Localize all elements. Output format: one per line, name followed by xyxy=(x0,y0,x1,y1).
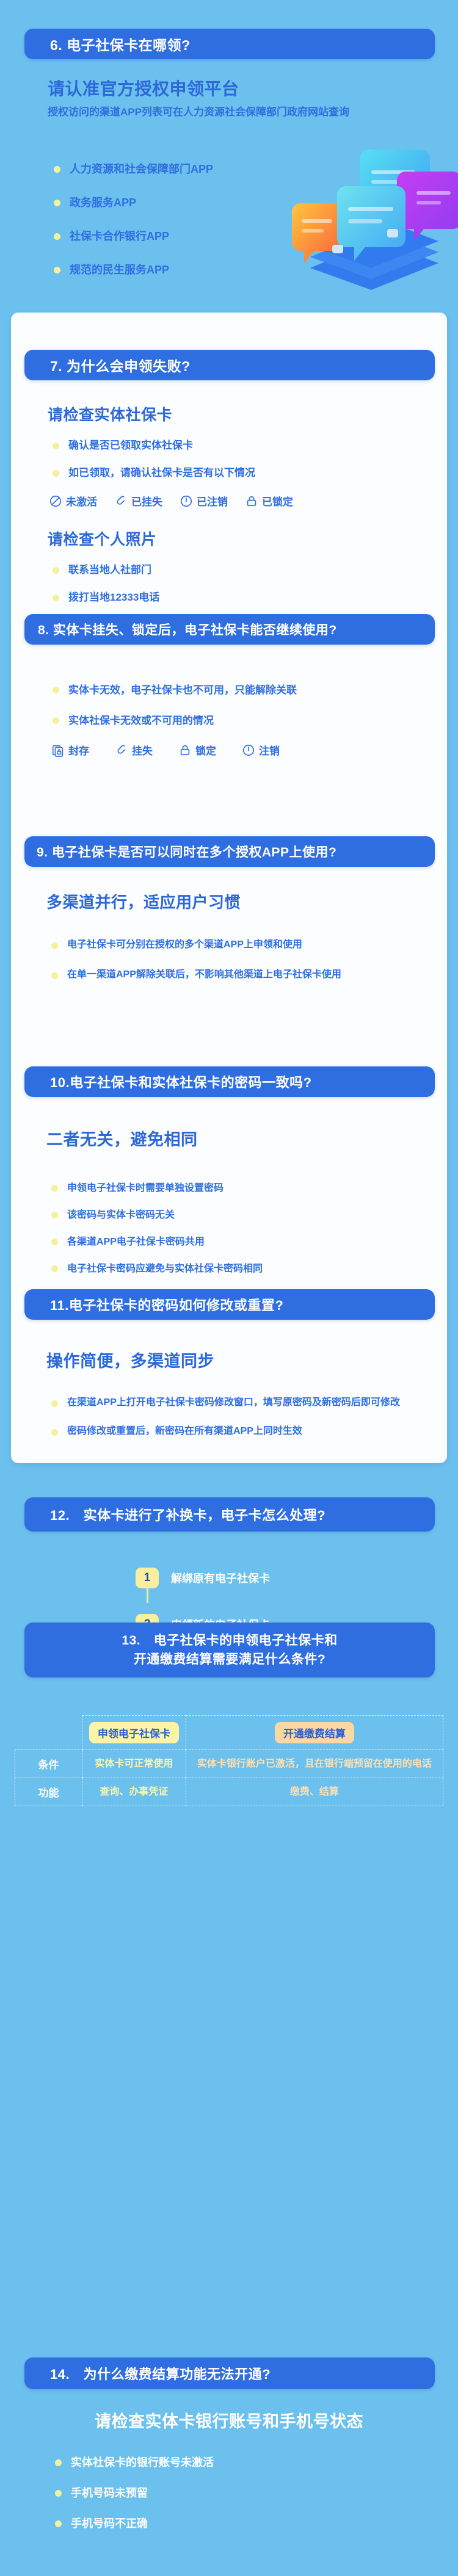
cell-condition-apply: 实体卡可正常使用 xyxy=(82,1750,186,1778)
section-8-list: 实体卡无效，电子社保卡也不可用，只能解除关联 实体社保卡无效或不可用的情况 xyxy=(46,675,437,736)
question-pill-14[interactable]: 14. 为什么缴费结算功能无法开通? xyxy=(24,2357,435,2389)
power-icon xyxy=(242,743,255,757)
section-10-list: 申领电子社保卡时需要单独设置密码 该密码与实体卡密码无关 各渠道APP电子社保卡… xyxy=(45,1175,436,1283)
list-item: 在渠道APP上打开电子社保卡密码修改窗口，填写原密码及新密码后即可修改 xyxy=(45,1395,430,1411)
list-item: 电子社保卡密码应避免与实体社保卡密码相同 xyxy=(45,1256,436,1283)
section-11-heading: 操作简便，多渠道同步 xyxy=(46,1348,214,1372)
chip-apply: 申领电子社保卡 xyxy=(89,1722,179,1743)
status-tag-label: 已注销 xyxy=(197,493,228,508)
section-6: 6. 电子社保卡在哪领? 请认准官方授权申领平台 授权访问的渠道APP列表可在人… xyxy=(0,0,458,308)
list-item: 实体卡无效，电子社保卡也不可用，只能解除关联 xyxy=(46,675,437,706)
section-9-list: 电子社保卡可分别在授权的多个渠道APP上申领和使用 在单一渠道APP解除关联后，… xyxy=(45,938,430,997)
list-item: 实体社保卡的银行账号未激活 xyxy=(49,2448,415,2478)
section-14-list: 实体社保卡的银行账号未激活 手机号码未预留 手机号码不正确 xyxy=(49,2448,415,2539)
list-item: 拨打当地12333电话 xyxy=(46,584,425,612)
list-item: 该密码与实体卡密码无关 xyxy=(45,1202,436,1229)
no-entry-icon xyxy=(49,494,62,508)
question-pill-7[interactable]: 7. 为什么会申领失败? xyxy=(24,350,435,380)
section-10-heading: 二者无关，避免相同 xyxy=(46,1126,198,1150)
status-tag-sealed[interactable]: 封存 xyxy=(51,742,89,758)
question-line-1: 13. 电子社保卡的申领电子社保卡和 xyxy=(122,1631,337,1651)
list-item: 实体社保卡无效或不可用的情况 xyxy=(46,706,437,736)
row-label-function: 功能 xyxy=(15,1778,82,1806)
chat-bubbles-illustration xyxy=(286,137,458,290)
question-pill-12[interactable]: 12. 实体卡进行了补换卡，电子卡怎么处理? xyxy=(24,1497,435,1532)
status-tag-label: 已锁定 xyxy=(262,493,293,508)
conditions-table-wrap: 申领电子社保卡 开通缴费结算 条件 实体卡可正常使用 实体卡银行账户已激活，且在… xyxy=(15,1715,443,1806)
pin-icon xyxy=(115,743,128,757)
list-item: 电子社保卡可分别在授权的多个渠道APP上申领和使用 xyxy=(45,938,430,953)
status-tag-label: 挂失 xyxy=(132,742,153,758)
question-pill-11[interactable]: 11.电子社保卡的密码如何修改或重置? xyxy=(24,1289,435,1320)
section-7-heading-2: 请检查个人照片 xyxy=(48,527,157,549)
step-label: 解绑原有电子社保卡 xyxy=(171,1570,270,1586)
step-connector xyxy=(147,1585,148,1603)
list-item: 各渠道APP电子社保卡密码共用 xyxy=(45,1229,436,1256)
section-14-heading: 请检查实体卡银行账号和手机号状态 xyxy=(0,2408,458,2432)
power-icon xyxy=(180,494,193,508)
status-tag-cancelled[interactable]: 注销 xyxy=(242,742,280,758)
faq-card: 7. 为什么会申领失败? 请检查实体社保卡 确认是否已领取实体社保卡 如已领取，… xyxy=(11,313,447,1463)
question-line-2: 开通缴费结算需要满足什么条件? xyxy=(134,1650,325,1670)
section-9-heading: 多渠道并行，适应用户习惯 xyxy=(46,890,241,913)
status-tag-label: 未激活 xyxy=(66,493,97,508)
section-7-status-tags: 未激活 已挂失 已注销 xyxy=(49,493,440,508)
section-6-subtitle: 授权访问的渠道APP列表可在人力资源社会保障部门政府网站查询 xyxy=(48,104,414,120)
status-tag-reported-lost[interactable]: 已挂失 xyxy=(114,493,162,508)
section-7-heading: 请检查实体社保卡 xyxy=(48,403,172,425)
cell-function-payment: 缴费、结算 xyxy=(186,1778,443,1806)
lock-icon xyxy=(245,494,258,508)
section-11-list: 在渠道APP上打开电子社保卡密码修改窗口，填写原密码及新密码后即可修改 密码修改… xyxy=(45,1395,430,1453)
status-tag-label: 锁定 xyxy=(195,742,216,758)
step-item: 1 解绑原有电子社保卡 xyxy=(136,1564,270,1592)
list-item: 手机号码不正确 xyxy=(49,2509,415,2539)
section-8-status-tags: 封存 挂失 锁定 xyxy=(51,742,442,758)
status-tag-label: 已挂失 xyxy=(131,493,162,508)
list-item: 确认是否已领取实体社保卡 xyxy=(46,432,425,460)
list-item: 如已领取，请确认社保卡是否有以下情况 xyxy=(46,460,425,487)
table-corner-cell xyxy=(15,1716,82,1750)
list-item: 联系当地人社部门 xyxy=(46,557,425,584)
section-6-heading: 请认准官方授权申领平台 xyxy=(48,76,239,100)
table-col-header-payment: 开通缴费结算 xyxy=(186,1716,443,1750)
table-header-row: 申领电子社保卡 开通缴费结算 xyxy=(15,1716,443,1750)
question-pill-8[interactable]: 8. 实体卡挂失、锁定后，电子社保卡能否继续使用? xyxy=(24,614,435,645)
section-7-list: 确认是否已领取实体社保卡 如已领取，请确认社保卡是否有以下情况 xyxy=(46,432,425,487)
table-col-header-apply: 申领电子社保卡 xyxy=(82,1716,186,1750)
status-tag-locked[interactable]: 已锁定 xyxy=(245,493,293,508)
question-pill-13[interactable]: 13. 电子社保卡的申领电子社保卡和 开通缴费结算需要满足什么条件? xyxy=(24,1623,435,1677)
status-tag-inactive[interactable]: 未激活 xyxy=(49,493,97,508)
section-7-list-2: 联系当地人社部门 拨打当地12333电话 xyxy=(46,557,425,612)
cell-condition-payment: 实体卡银行账户已激活，且在银行端预留在使用的电话 xyxy=(186,1750,443,1778)
question-pill-6[interactable]: 6. 电子社保卡在哪领? xyxy=(24,29,435,59)
list-item: 手机号码未预留 xyxy=(49,2478,415,2509)
status-tag-label: 封存 xyxy=(68,742,89,758)
question-pill-10[interactable]: 10.电子社保卡和实体社保卡的密码一致吗? xyxy=(24,1066,435,1097)
table-row: 条件 实体卡可正常使用 实体卡银行账户已激活，且在银行端预留在使用的电话 xyxy=(15,1750,443,1778)
status-tag-label: 注销 xyxy=(259,742,280,758)
status-tag-locked[interactable]: 锁定 xyxy=(178,742,216,758)
list-item: 在单一渠道APP解除关联后，不影响其他渠道上电子社保卡使用 xyxy=(45,968,430,983)
list-item: 密码修改或重置后，新密码在所有渠道APP上同时生效 xyxy=(45,1424,430,1439)
question-pill-9[interactable]: 9. 电子社保卡是否可以同时在多个授权APP上使用? xyxy=(24,836,435,867)
pin-icon xyxy=(114,494,128,508)
chip-payment: 开通缴费结算 xyxy=(275,1722,354,1743)
row-label-condition: 条件 xyxy=(15,1750,82,1778)
table-row: 功能 查询、办事凭证 缴费、结算 xyxy=(15,1778,443,1806)
status-tag-reported-lost[interactable]: 挂失 xyxy=(115,742,153,758)
conditions-table: 申领电子社保卡 开通缴费结算 条件 实体卡可正常使用 实体卡银行账户已激活，且在… xyxy=(15,1715,443,1806)
status-tag-cancelled[interactable]: 已注销 xyxy=(180,493,228,508)
archive-lock-icon xyxy=(51,743,65,757)
cell-function-apply: 查询、办事凭证 xyxy=(82,1778,186,1806)
list-item: 申领电子社保卡时需要单独设置密码 xyxy=(45,1175,436,1202)
lock-icon xyxy=(178,743,192,757)
